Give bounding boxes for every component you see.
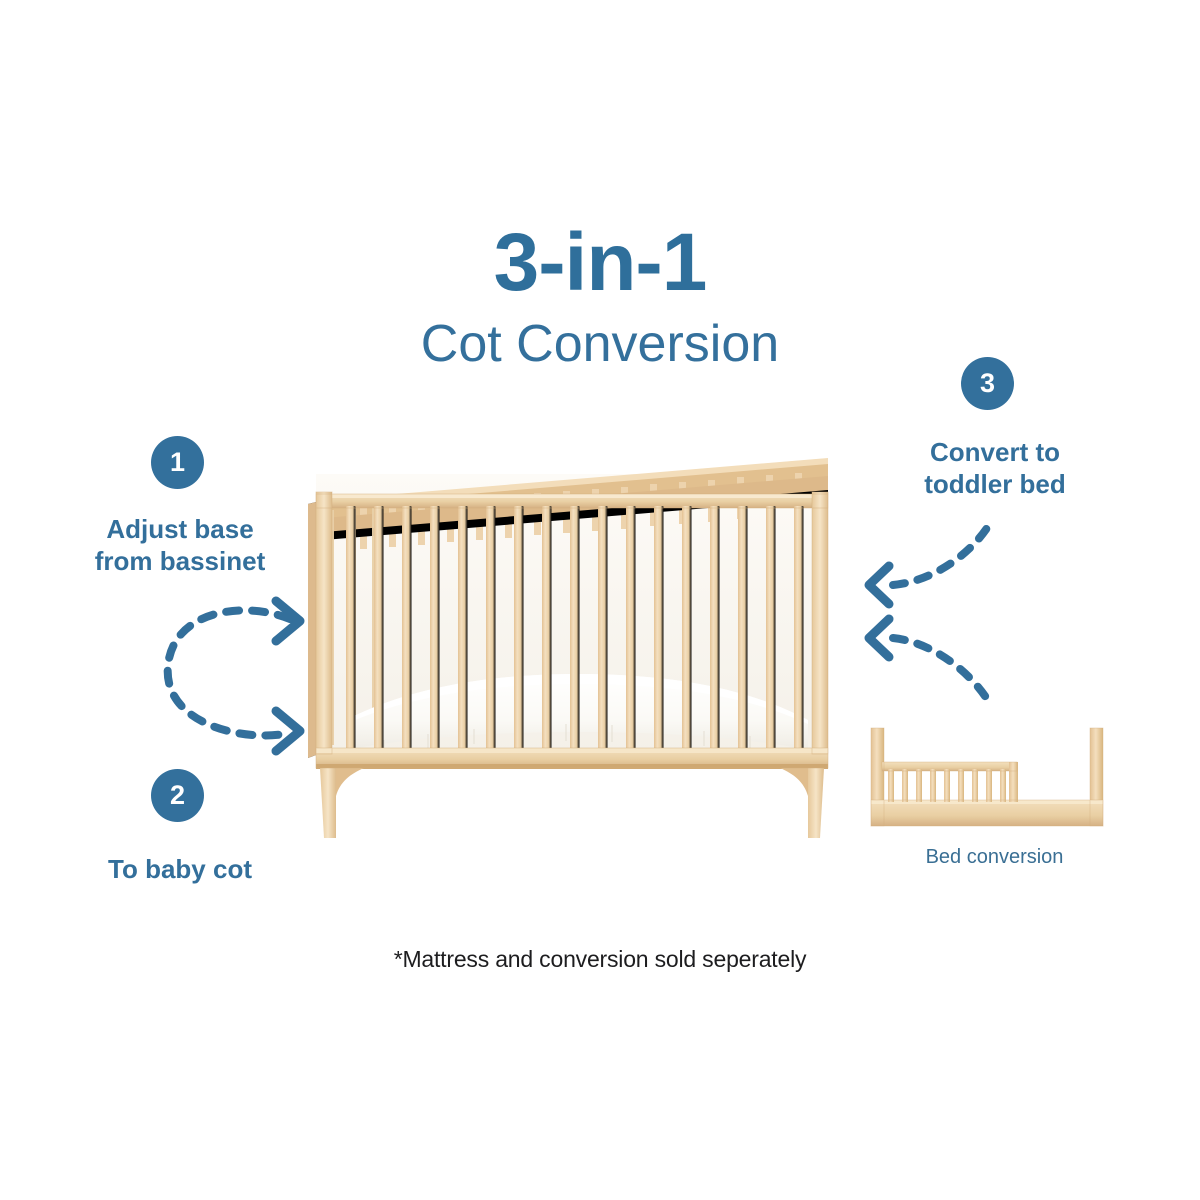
- step-label-3: Convert to toddler bed: [880, 437, 1110, 500]
- page-subtitle: Cot Conversion: [0, 318, 1200, 370]
- step-label-1: Adjust base from bassinet: [40, 514, 320, 577]
- toddler-bed-illustration: [865, 714, 1115, 836]
- converging-dashed-arrows: [855, 520, 1040, 715]
- bed-conversion-caption: Bed conversion: [872, 845, 1117, 869]
- wooden-baby-cot-illustration: [288, 452, 854, 842]
- step-badge-2[interactable]: 2: [151, 769, 204, 822]
- footnote-disclaimer: *Mattress and conversion sold seperately: [0, 946, 1200, 973]
- step-label-2-line1: To baby cot: [40, 854, 320, 886]
- page-title: 3-in-1: [0, 222, 1200, 304]
- step-label-3-line2: toddler bed: [880, 469, 1110, 501]
- infographic-canvas: 3-in-1 Cot Conversion: [0, 0, 1200, 1200]
- step-label-1-line1: Adjust base: [40, 514, 320, 546]
- step-badge-1[interactable]: 1: [151, 436, 204, 489]
- step-label-3-line1: Convert to: [880, 437, 1110, 469]
- step-badge-3[interactable]: 3: [961, 357, 1014, 410]
- step-label-1-line2: from bassinet: [40, 546, 320, 578]
- step-label-2: To baby cot: [40, 854, 320, 886]
